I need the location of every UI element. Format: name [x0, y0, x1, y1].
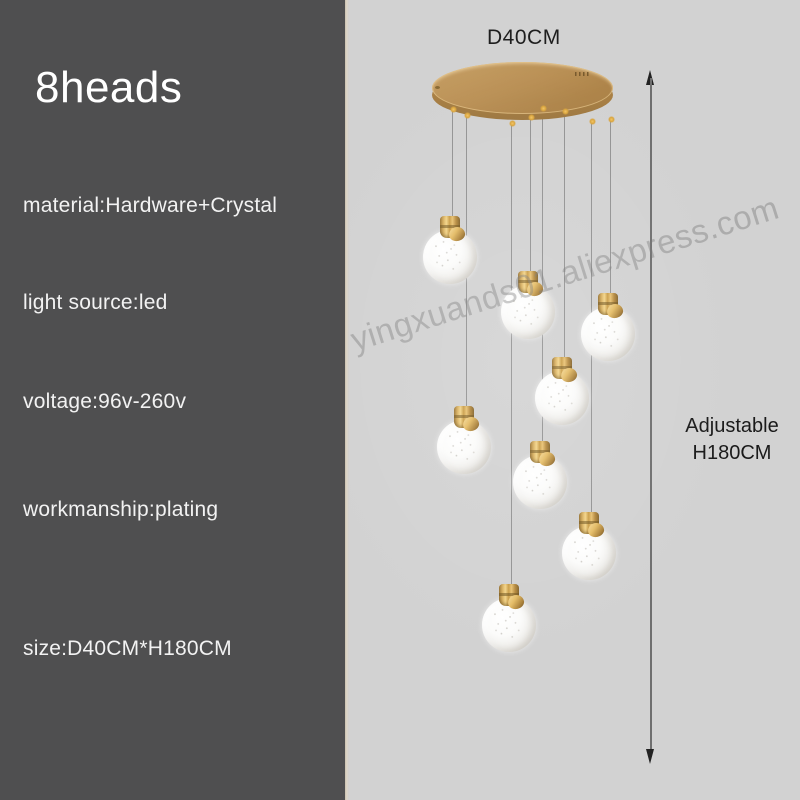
- height-label-line2: H180CM: [667, 440, 797, 467]
- product-diagram-panel: D40CM Adjustable H180CM yingxuands01.ali…: [349, 0, 800, 800]
- cable-anchor: [562, 108, 569, 115]
- plate-vent-slots: [575, 72, 591, 76]
- pendant-cable: [511, 124, 512, 584]
- spec-workmanship: workmanship:plating: [23, 498, 218, 522]
- height-label: Adjustable H180CM: [667, 413, 797, 467]
- pendant-cable: [564, 112, 565, 357]
- height-label-line1: Adjustable: [667, 413, 797, 440]
- watermark: yingxuands01.aliexpress.com: [349, 185, 796, 360]
- cable-anchor: [464, 112, 471, 119]
- cable-anchor: [589, 118, 596, 125]
- product-spec-image: 8heads material:Hardware+Crystal light s…: [0, 0, 800, 800]
- spec-size: size:D40CM*H180CM: [23, 637, 232, 661]
- page-title: 8heads: [35, 63, 182, 113]
- height-dimension-arrow: [644, 70, 658, 764]
- cable-anchor: [540, 105, 547, 112]
- cable-anchor: [509, 120, 516, 127]
- cable-anchor: [450, 106, 457, 113]
- pendant-cable: [530, 118, 531, 271]
- spec-voltage: voltage:96v-260v: [23, 390, 186, 414]
- cable-anchor: [528, 114, 535, 121]
- diameter-label: D40CM: [487, 26, 561, 50]
- pendant-cable: [610, 120, 611, 293]
- cable-anchor: [608, 116, 615, 123]
- spec-light-source: light source:led: [23, 291, 167, 315]
- arrow-head-down-icon: [646, 749, 654, 764]
- spec-panel: 8heads material:Hardware+Crystal light s…: [0, 0, 345, 800]
- plate-screw: [435, 86, 440, 89]
- ceiling-plate: [432, 62, 613, 128]
- plate-rim: [432, 62, 613, 114]
- arrow-shaft: [650, 78, 652, 756]
- spec-material: material:Hardware+Crystal: [23, 194, 277, 218]
